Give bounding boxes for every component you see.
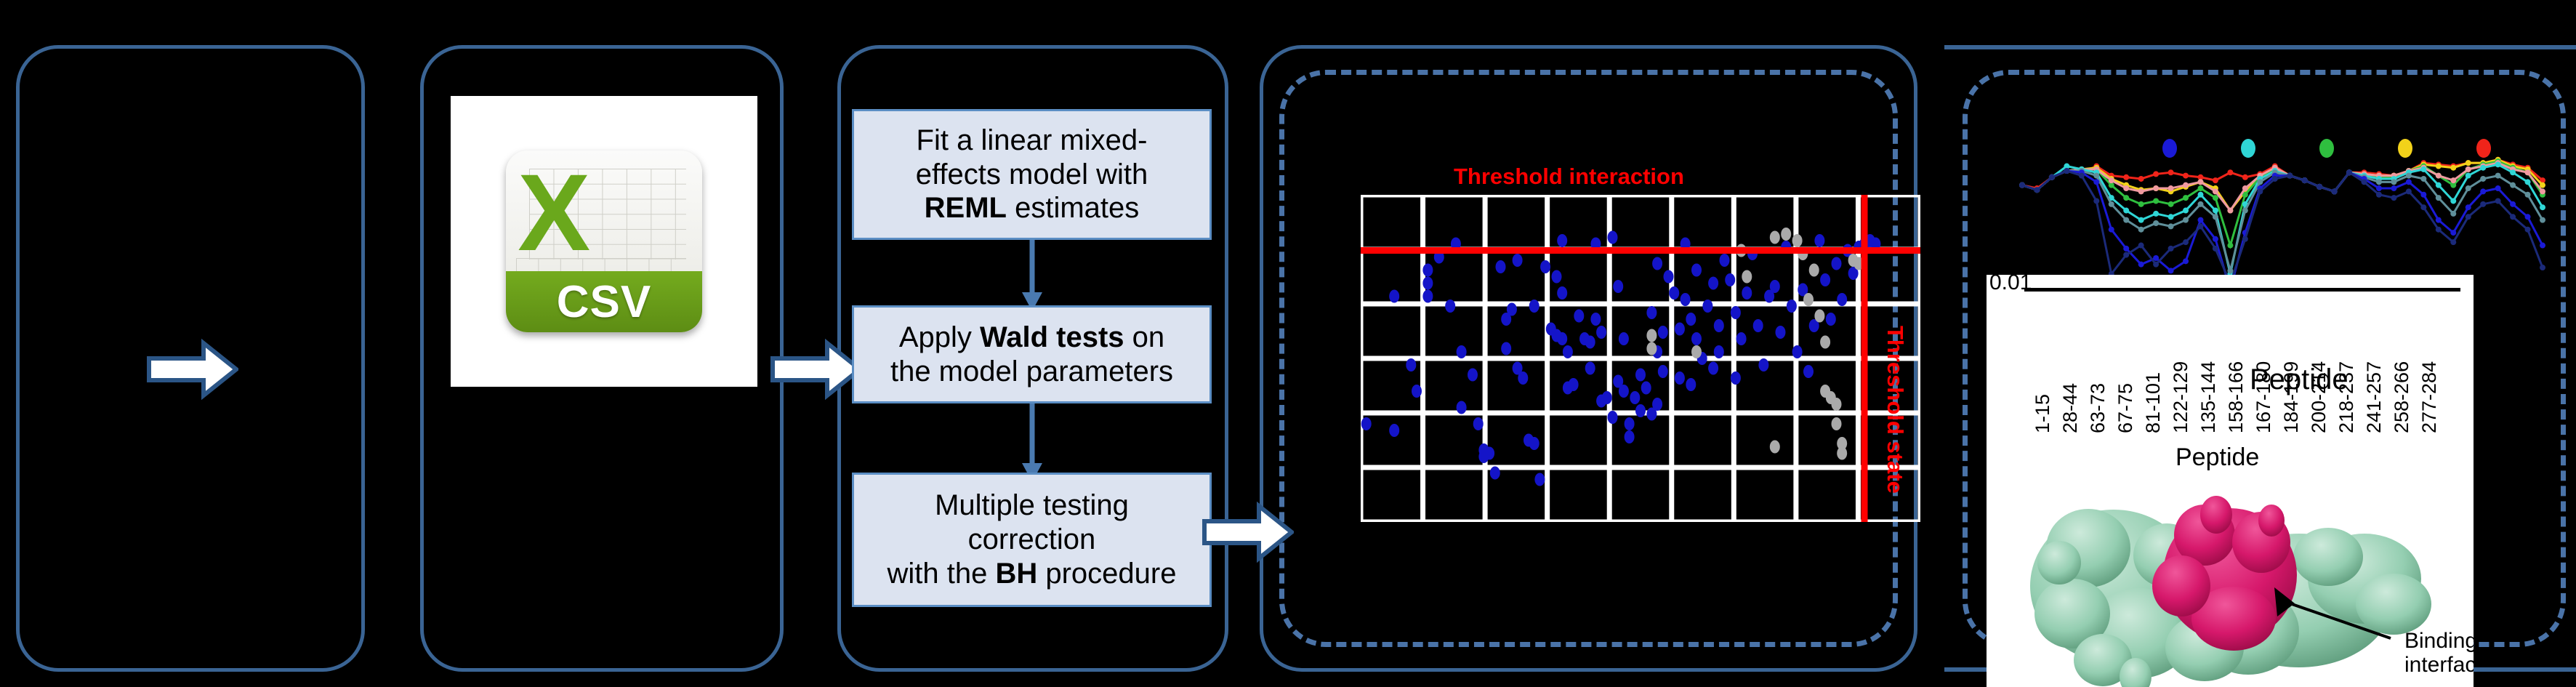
x-axis-tick: 28-44 <box>2059 383 2082 433</box>
arrow-steps-to-scatter <box>1202 502 1294 563</box>
step-fit-model-line-3-suffix: estimates <box>1007 192 1139 224</box>
x-axis-tick: 67-75 <box>2114 383 2137 433</box>
step-bh-line-1: Multiple testing <box>887 489 1177 523</box>
peptide-title: Peptide <box>2250 363 2348 396</box>
step-wald-tests-text: Apply Wald tests on the model parameters <box>890 321 1173 389</box>
x-axis-tick: 135-144 <box>2197 361 2220 433</box>
arrow-csv-to-steps <box>770 339 862 400</box>
binding-interface-label: Binding interface <box>2404 629 2474 677</box>
step-bh-bold: BH <box>995 558 1037 590</box>
x-axis-tick: 158-166 <box>2225 361 2247 433</box>
x-axis-tick: 122-129 <box>2170 361 2192 433</box>
x-axis-tick: 81-101 <box>2142 372 2165 433</box>
step-bh-suffix: procedure <box>1037 558 1176 590</box>
binding-interface-line-1: Binding <box>2404 629 2474 653</box>
csv-label-band: CSV <box>506 271 702 332</box>
step-wald-tests-line-1: Apply Wald tests on <box>890 321 1173 355</box>
step-bh-line-3: with the BH procedure <box>887 557 1177 591</box>
csv-file-icon-frame: X CSV <box>451 96 757 387</box>
excel-x-glyph: X <box>518 158 590 267</box>
x-axis-tick: 258-266 <box>2391 361 2413 433</box>
step-fit-model-bold: REML <box>925 192 1007 224</box>
step-bh-line-2: correction <box>887 523 1177 557</box>
binding-interface-line-2: interface <box>2404 653 2474 677</box>
x-axis-tick: 1-15 <box>2032 394 2054 433</box>
step-bh-correction-text: Multiple testing correction with the BH … <box>887 489 1177 590</box>
step-bh-prefix: with the <box>887 558 996 590</box>
scatter-plot <box>1361 195 1920 522</box>
y-axis-tick-001: 0.01 <box>1989 275 2032 295</box>
step-fit-model-line-3: REML estimates <box>916 191 1148 225</box>
step-bh-correction-box[interactable]: Multiple testing correction with the BH … <box>852 473 1212 607</box>
csv-label: CSV <box>557 276 651 328</box>
csv-icon: X CSV <box>506 150 702 332</box>
step-wald-tests-line-2: the model parameters <box>890 355 1173 389</box>
step-wald-tests-box[interactable]: Apply Wald tests on the model parameters <box>852 305 1212 403</box>
step-fit-model-line-2: effects model with <box>916 158 1148 192</box>
arrow-into-panel-1 <box>147 339 238 400</box>
protein-structure-render <box>1987 470 2474 687</box>
threshold-state-label: Threshold state <box>1882 326 1908 494</box>
step-wald-prefix: Apply <box>899 321 980 353</box>
step-fit-model-box[interactable]: Fit a linear mixed- effects model with R… <box>852 109 1212 240</box>
protein-figure-box: 0.01 1-1528-4463-7367-7581-101122-129135… <box>1987 275 2474 687</box>
scatter-plot-svg <box>1361 195 1920 522</box>
x-axis-tick: 277-284 <box>2418 361 2441 433</box>
x-axis-tick: 241-257 <box>2363 361 2386 433</box>
x-axis-line <box>2024 288 2460 292</box>
flowchart-canvas: X CSV Fit a linear mixed- effects model … <box>0 0 2576 687</box>
step-wald-suffix: on <box>1124 321 1165 353</box>
threshold-interaction-label: Threshold interaction <box>1454 164 1684 190</box>
step-fit-model-text: Fit a linear mixed- effects model with R… <box>916 124 1148 225</box>
connector-wald-to-bh <box>1018 403 1047 483</box>
step-fit-model-line-1: Fit a linear mixed- <box>916 124 1148 158</box>
x-axis-title: Peptide <box>2175 443 2259 472</box>
connector-fit-to-wald <box>1018 240 1047 313</box>
x-axis-tick: 63-73 <box>2087 383 2109 433</box>
step-wald-bold: Wald tests <box>980 321 1124 353</box>
panel-5-top-rule <box>1944 45 2576 49</box>
